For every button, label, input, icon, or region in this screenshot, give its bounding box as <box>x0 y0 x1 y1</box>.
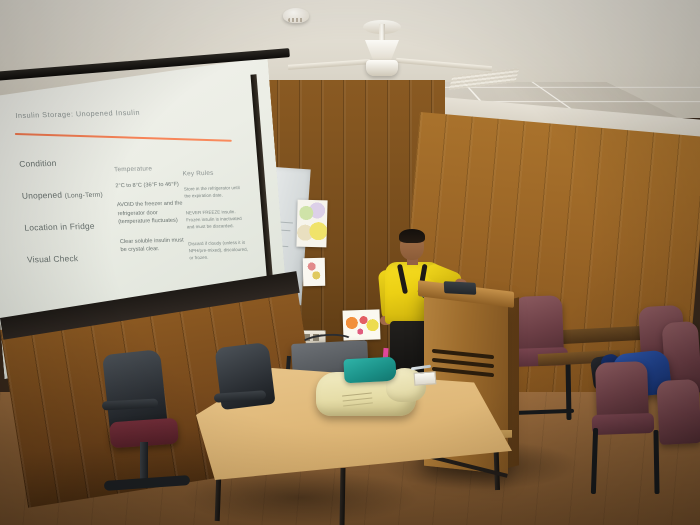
key-rules-cell-discard: Discard if cloudy (unless it is NPH/pre-… <box>188 240 252 262</box>
row-label-unopened-main: Unopened <box>21 190 65 201</box>
slide-accent-rule <box>15 133 232 142</box>
slide-row-label-column: Condition Unopened (Long-Term) Location … <box>19 156 125 286</box>
temperature-cell-clarity: Clear soluble insulin must be crystal cl… <box>120 236 191 255</box>
auditorium-chair-4-seat <box>592 413 655 435</box>
temperature-cell-avoid: AVOID the freezer and the refrigerator d… <box>117 200 189 227</box>
table-leg-mid <box>339 468 345 525</box>
slide-key-rules-column: Key Rules Store in the refrigerator unti… <box>182 169 252 272</box>
column-header-temperature: Temperature <box>114 165 185 174</box>
key-rules-cell-never-freeze: NEVER FREEZE insulin. Frozen insulin is … <box>186 209 250 231</box>
row-label-condition: Condition <box>19 156 116 168</box>
row-label-unopened: Unopened (Long-Term) <box>21 188 118 200</box>
column-header-key-rules: Key Rules <box>182 169 245 178</box>
laptop-on-podium[interactable] <box>444 281 477 295</box>
teal-cloth <box>343 357 396 384</box>
presenter-hair <box>399 229 425 243</box>
smoke-detector-icon <box>283 8 309 23</box>
row-label-location-in-fridge: Location in Fridge <box>24 220 121 232</box>
auditorium-chair-5 <box>656 379 700 445</box>
lecture-room-photo: Insulin Storage: Unopened Insulin Condit… <box>0 0 700 525</box>
key-rules-cell-store: Store in the refrigerator until the expi… <box>184 185 247 201</box>
row-label-visual-check: Visual Check <box>27 252 124 264</box>
wall-poster-map <box>296 200 327 248</box>
slide-title: Insulin Storage: Unopened Insulin <box>15 108 140 120</box>
cpr-manikin <box>316 358 426 416</box>
row-label-unopened-sub: (Long-Term) <box>65 192 104 200</box>
fan-motor-cap <box>366 60 398 76</box>
slide-temperature-column: Temperature 2°C to 8°C (36°F to 46°F) AV… <box>114 165 192 266</box>
temperature-cell-range: 2°C to 8°C (36°F to 46°F) <box>115 180 186 190</box>
wall-poster-small <box>303 258 325 286</box>
syringe-box <box>414 371 437 386</box>
